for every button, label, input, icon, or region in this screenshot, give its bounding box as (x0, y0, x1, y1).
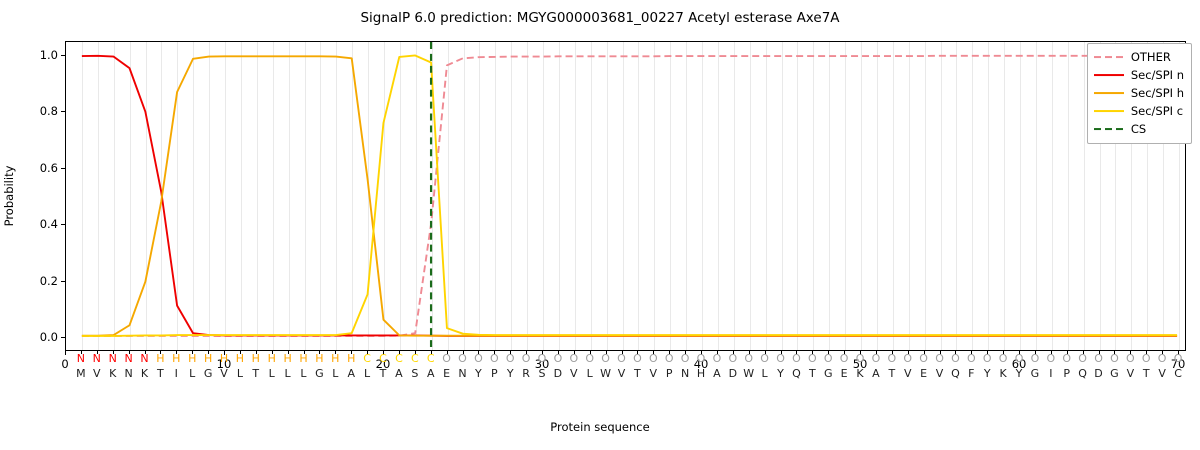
signalp-figure: SignalP 6.0 prediction: MGYG000003681_00… (0, 0, 1200, 450)
region-label: O (872, 352, 881, 366)
residue-label: N (124, 367, 132, 381)
region-label: O (522, 352, 531, 366)
region-label: O (681, 352, 690, 366)
residue-label: S (411, 367, 418, 381)
legend-item[interactable]: CS (1094, 120, 1184, 138)
region-label: H (252, 352, 260, 366)
region-label: O (506, 352, 515, 366)
region-label: O (999, 352, 1008, 366)
legend-label: CS (1131, 122, 1146, 136)
residue-label: L (269, 367, 275, 381)
residue-label: L (285, 367, 291, 381)
region-label: O (792, 352, 801, 366)
region-label: O (1158, 352, 1167, 366)
region-label: H (204, 352, 212, 366)
residue-label: Q (792, 367, 801, 381)
region-label: O (1174, 352, 1183, 366)
series-sec-spi-c (82, 55, 1177, 335)
residue-label: I (1049, 367, 1052, 381)
residue-label: P (1063, 367, 1070, 381)
region-label: O (808, 352, 817, 366)
region-label: C (395, 352, 403, 366)
residue-label: V (93, 367, 101, 381)
region-label: H (315, 352, 323, 366)
legend-swatch-icon (1094, 51, 1124, 63)
residue-label: D (729, 367, 737, 381)
legend: OTHERSec/SPI nSec/SPI hSec/SPI cCS (1087, 43, 1192, 144)
residue-label: A (395, 367, 403, 381)
region-label: C (427, 352, 435, 366)
legend-label: Sec/SPI c (1131, 104, 1183, 118)
series-sec-spi-n (82, 56, 1177, 336)
residue-label: Y (1016, 367, 1023, 381)
legend-swatch-icon (1094, 87, 1124, 99)
residue-label: V (570, 367, 578, 381)
region-label: O (569, 352, 578, 366)
region-label: O (776, 352, 785, 366)
residue-label: V (650, 367, 658, 381)
residue-label: S (539, 367, 546, 381)
region-label: H (172, 352, 180, 366)
residue-label: K (109, 367, 116, 381)
region-label: O (1110, 352, 1119, 366)
region-label: H (220, 352, 228, 366)
region-label: O (1142, 352, 1151, 366)
protein-sequence-row: MVKNKTILGVLTLLLGLALTASAENYPYRSDVLWVTVPNH… (65, 367, 1186, 381)
residue-label: L (364, 367, 370, 381)
region-label: O (760, 352, 769, 366)
y-tick (61, 55, 65, 56)
x-axis-title: Protein sequence (0, 420, 1200, 434)
region-annotation-row: NNNNNHHHHHHHHHHHHHCCCCCOOOOOOOOOOOOOOOOO… (65, 352, 1186, 366)
residue-label: C (1174, 367, 1182, 381)
region-label: H (347, 352, 355, 366)
region-label: H (331, 352, 339, 366)
residue-label: F (968, 367, 974, 381)
region-label: O (887, 352, 896, 366)
legend-swatch-icon (1094, 69, 1124, 81)
residue-label: H (697, 367, 705, 381)
residue-label: D (1094, 367, 1102, 381)
y-tick (61, 224, 65, 225)
residue-label: A (713, 367, 721, 381)
y-tick-label: 0.2 (40, 274, 58, 288)
region-label: O (983, 352, 992, 366)
residue-label: Y (507, 367, 514, 381)
region-label: H (283, 352, 291, 366)
region-label: O (1078, 352, 1087, 366)
residue-label: T (380, 367, 387, 381)
residue-label: P (491, 367, 498, 381)
residue-label: Y (777, 367, 784, 381)
y-tick-label: 0.6 (40, 161, 58, 175)
y-tick (61, 337, 65, 338)
region-label: O (1015, 352, 1024, 366)
region-label: N (93, 352, 101, 366)
residue-label: I (175, 367, 178, 381)
region-label: O (474, 352, 483, 366)
legend-label: Sec/SPI h (1131, 86, 1184, 100)
residue-label: G (1031, 367, 1040, 381)
y-axis-title: Probability (2, 166, 16, 227)
y-tick-label: 0.8 (40, 104, 58, 118)
residue-label: T (809, 367, 816, 381)
residue-label: G (204, 367, 213, 381)
region-label: O (633, 352, 642, 366)
region-label: O (442, 352, 451, 366)
y-tick (61, 281, 65, 282)
legend-item[interactable]: Sec/SPI c (1094, 102, 1184, 120)
residue-label: K (856, 367, 863, 381)
residue-label: Q (1078, 367, 1087, 381)
region-label: C (363, 352, 371, 366)
y-tick (61, 168, 65, 169)
region-label: O (1126, 352, 1135, 366)
region-label: O (951, 352, 960, 366)
residue-label: T (157, 367, 164, 381)
region-label: O (824, 352, 833, 366)
legend-item[interactable]: OTHER (1094, 48, 1184, 66)
region-label: H (268, 352, 276, 366)
region-label: C (379, 352, 387, 366)
residue-label: L (587, 367, 593, 381)
region-label: O (617, 352, 626, 366)
plot-clip (66, 42, 1185, 350)
residue-label: G (1110, 367, 1119, 381)
residue-label: Y (984, 367, 991, 381)
residue-label: V (1158, 367, 1166, 381)
region-label: N (140, 352, 148, 366)
residue-label: W (743, 367, 754, 381)
residue-label: K (141, 367, 148, 381)
region-label: O (490, 352, 499, 366)
residue-label: D (554, 367, 562, 381)
residue-label: V (936, 367, 944, 381)
residue-label: L (300, 367, 306, 381)
y-tick (61, 111, 65, 112)
region-label: O (856, 352, 865, 366)
residue-label: E (920, 367, 927, 381)
series-other (82, 56, 1177, 336)
region-label: H (188, 352, 196, 366)
region-label: O (665, 352, 674, 366)
region-label: O (744, 352, 753, 366)
region-label: O (601, 352, 610, 366)
residue-label: V (904, 367, 912, 381)
region-label: O (554, 352, 563, 366)
residue-label: V (1127, 367, 1135, 381)
region-label: O (697, 352, 706, 366)
region-label: O (919, 352, 928, 366)
region-label: O (649, 352, 658, 366)
region-label: H (299, 352, 307, 366)
residue-label: A (872, 367, 880, 381)
region-label: N (77, 352, 85, 366)
region-label: O (713, 352, 722, 366)
region-label: O (1031, 352, 1040, 366)
region-label: O (585, 352, 594, 366)
residue-label: N (681, 367, 689, 381)
residue-label: A (427, 367, 435, 381)
residue-label: T (888, 367, 895, 381)
legend-label: OTHER (1131, 50, 1171, 64)
region-label: O (935, 352, 944, 366)
region-label: O (1094, 352, 1103, 366)
region-label: H (236, 352, 244, 366)
residue-label: T (634, 367, 641, 381)
y-tick-label: 0.4 (40, 217, 58, 231)
residue-label: A (347, 367, 355, 381)
residue-label: G (315, 367, 324, 381)
residue-label: N (458, 367, 466, 381)
region-label: O (728, 352, 737, 366)
residue-label: V (618, 367, 626, 381)
legend-item[interactable]: Sec/SPI h (1094, 84, 1184, 102)
residue-label: E (443, 367, 450, 381)
region-label: O (1062, 352, 1071, 366)
residue-label: Q (951, 367, 960, 381)
residue-label: Y (475, 367, 482, 381)
residue-label: K (1000, 367, 1007, 381)
region-label: O (903, 352, 912, 366)
residue-label: M (76, 367, 86, 381)
plot-axes (65, 41, 1186, 351)
residue-label: L (237, 367, 243, 381)
region-label: O (840, 352, 849, 366)
y-tick-label: 1.0 (40, 48, 58, 62)
page-title: SignalP 6.0 prediction: MGYG000003681_00… (0, 10, 1200, 26)
region-label: O (967, 352, 976, 366)
residue-label: L (189, 367, 195, 381)
region-label: O (538, 352, 547, 366)
residue-label: G (824, 367, 833, 381)
y-tick-label: 0.0 (40, 330, 58, 344)
legend-item[interactable]: Sec/SPI n (1094, 66, 1184, 84)
legend-label: Sec/SPI n (1131, 68, 1184, 82)
region-label: H (156, 352, 164, 366)
region-label: N (109, 352, 117, 366)
residue-label: V (220, 367, 228, 381)
residue-label: L (332, 367, 338, 381)
residue-label: T (252, 367, 259, 381)
residue-label: L (762, 367, 768, 381)
region-label: C (411, 352, 419, 366)
residue-label: W (600, 367, 611, 381)
region-label: N (124, 352, 132, 366)
residue-label: E (841, 367, 848, 381)
data-curves (66, 42, 1185, 350)
residue-label: P (666, 367, 673, 381)
residue-label: R (522, 367, 530, 381)
region-label: O (1047, 352, 1056, 366)
residue-label: T (1143, 367, 1150, 381)
legend-swatch-icon (1094, 123, 1124, 135)
series-sec-spi-h (82, 56, 1177, 335)
region-label: O (458, 352, 467, 366)
legend-swatch-icon (1094, 105, 1124, 117)
